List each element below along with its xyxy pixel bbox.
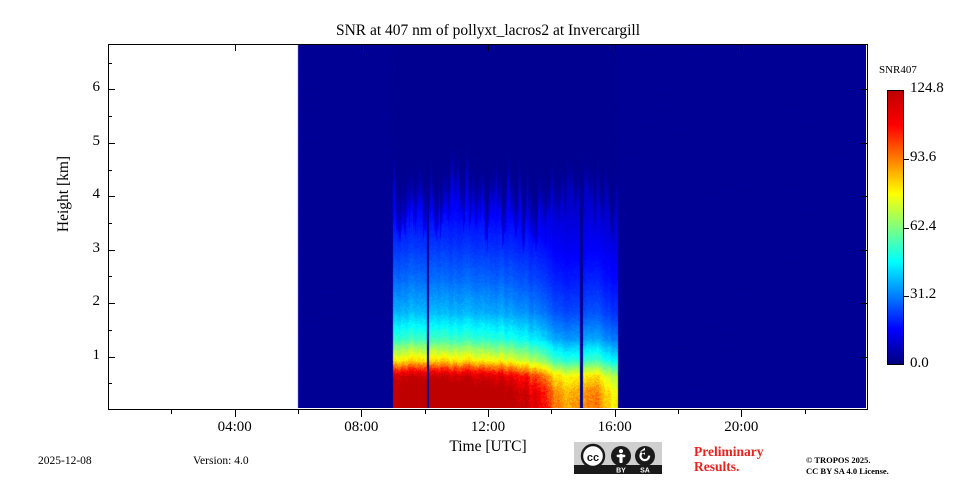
colorbar-title: SNR407 bbox=[879, 64, 917, 76]
y-axis-tick-label: 4 bbox=[74, 186, 100, 203]
y-axis-tick-right bbox=[861, 143, 868, 144]
colorbar bbox=[887, 90, 904, 365]
colorbar-tick bbox=[904, 296, 909, 297]
colorbar-tick bbox=[904, 228, 909, 229]
x-axis-tick-top bbox=[741, 44, 742, 51]
svg-text:cc: cc bbox=[587, 452, 599, 464]
y-axis-tick-label: 3 bbox=[74, 240, 100, 257]
cc-by-sa-badge-icon: cc BY SA bbox=[574, 442, 662, 474]
x-axis-tick bbox=[615, 410, 616, 417]
x-axis-tick bbox=[361, 410, 362, 417]
x-axis-tick bbox=[741, 410, 742, 417]
colorbar-tick-label: 62.4 bbox=[910, 218, 936, 235]
y-axis-tick bbox=[108, 143, 115, 144]
y-axis-tick-label: 5 bbox=[74, 133, 100, 150]
y-axis-tick-right bbox=[861, 303, 868, 304]
y-axis-label: Height [km] bbox=[55, 124, 73, 264]
y-axis-tick bbox=[108, 357, 115, 358]
y-axis-tick bbox=[108, 303, 115, 304]
preliminary-line-1: Preliminary bbox=[694, 444, 763, 459]
copyright-line-1: © TROPOS 2025. bbox=[806, 455, 889, 466]
x-axis-minor-tick bbox=[551, 410, 552, 414]
snr-heatmap bbox=[109, 45, 866, 408]
y-axis-minor-tick bbox=[108, 170, 112, 171]
y-axis-minor-tick bbox=[108, 116, 112, 117]
y-axis-tick-right bbox=[861, 196, 868, 197]
x-axis-minor-tick bbox=[298, 410, 299, 414]
footer-version: Version: 4.0 bbox=[193, 455, 249, 467]
footer-date: 2025-12-08 bbox=[38, 455, 92, 467]
x-axis-tick bbox=[235, 410, 236, 417]
x-axis-tick-top bbox=[615, 44, 616, 51]
copyright-line-2: CC BY SA 4.0 License. bbox=[806, 466, 889, 477]
y-axis-tick-label: 1 bbox=[74, 347, 100, 364]
copyright-block: © TROPOS 2025. CC BY SA 4.0 License. bbox=[806, 455, 889, 478]
preliminary-results-note: Preliminary Results. bbox=[694, 444, 763, 474]
badge-sa-label: SA bbox=[640, 467, 650, 474]
y-axis-tick bbox=[108, 250, 115, 251]
y-axis-tick-label: 2 bbox=[74, 293, 100, 310]
y-axis-minor-tick bbox=[108, 223, 112, 224]
page-title: SNR at 407 nm of pollyxt_lacros2 at Inve… bbox=[108, 22, 868, 40]
plot-axes-frame bbox=[108, 44, 868, 410]
x-axis-minor-tick bbox=[425, 410, 426, 414]
badge-by-label: BY bbox=[616, 467, 626, 474]
colorbar-tick-label: 0.0 bbox=[910, 355, 929, 372]
x-axis-tick-label: 08:00 bbox=[326, 419, 396, 436]
x-axis-tick bbox=[488, 410, 489, 417]
x-axis-tick-label: 04:00 bbox=[200, 419, 270, 436]
colorbar-gradient bbox=[888, 91, 903, 364]
colorbar-tick bbox=[904, 159, 909, 160]
y-axis-tick-right bbox=[861, 89, 868, 90]
colorbar-tick-label: 124.8 bbox=[910, 80, 944, 97]
x-axis-tick-label: 20:00 bbox=[706, 419, 776, 436]
x-axis-tick-label: 12:00 bbox=[453, 419, 523, 436]
y-axis-minor-tick bbox=[108, 383, 112, 384]
y-axis-tick-right bbox=[861, 250, 868, 251]
x-axis-tick-top bbox=[235, 44, 236, 51]
y-axis-tick-right bbox=[861, 357, 868, 358]
x-axis-minor-tick bbox=[171, 410, 172, 414]
preliminary-line-2: Results. bbox=[694, 459, 763, 474]
y-axis-tick bbox=[108, 89, 115, 90]
y-axis-tick-label: 6 bbox=[74, 79, 100, 96]
y-axis-minor-tick bbox=[108, 63, 112, 64]
quicklook-figure: SNR at 407 nm of pollyxt_lacros2 at Inve… bbox=[0, 0, 960, 480]
colorbar-tick-label: 31.2 bbox=[910, 286, 936, 303]
y-axis-minor-tick bbox=[108, 276, 112, 277]
x-axis-minor-tick bbox=[805, 410, 806, 414]
x-axis-tick-top bbox=[361, 44, 362, 51]
y-axis-minor-tick bbox=[108, 330, 112, 331]
x-axis-tick-top bbox=[488, 44, 489, 51]
colorbar-tick-label: 93.6 bbox=[910, 149, 936, 166]
x-axis-minor-tick bbox=[678, 410, 679, 414]
y-axis-tick bbox=[108, 196, 115, 197]
x-axis-tick-label: 16:00 bbox=[580, 419, 650, 436]
